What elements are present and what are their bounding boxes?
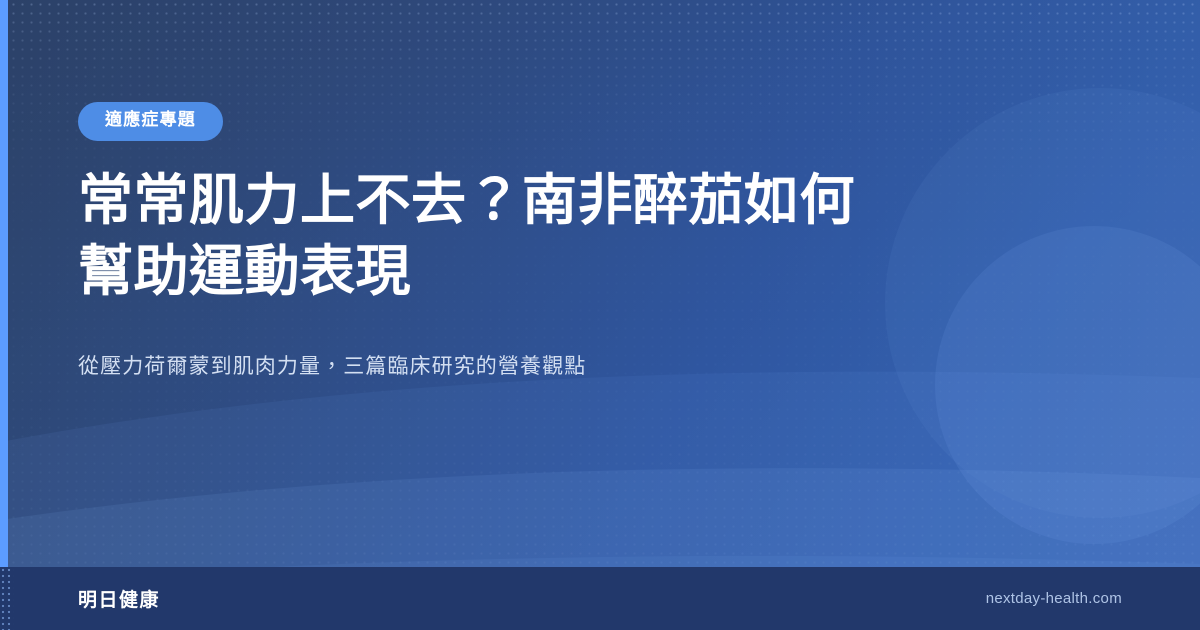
social-share-card: 適應症專題 常常肌力上不去？南非醉茄如何 幫助運動表現 從壓力荷爾蒙到肌肉力量，… [0,0,1200,630]
footer-brand-name: 明日健康 [78,585,160,612]
footer-dot-pattern [0,567,14,630]
page-subtitle: 從壓力荷爾蒙到肌肉力量，三篇臨床研究的營養觀點 [78,308,958,384]
category-badge[interactable]: 適應症專題 [78,102,223,141]
page-title: 常常肌力上不去？南非醉茄如何 幫助運動表現 [78,141,908,308]
card-footer: 明日健康 nextday-health.com [0,567,1200,630]
left-accent-bar [0,0,8,567]
footer-site-url[interactable]: nextday-health.com [986,590,1122,607]
card-content: 適應症專題 常常肌力上不去？南非醉茄如何 幫助運動表現 從壓力荷爾蒙到肌肉力量，… [78,0,958,383]
page-title-line-1: 常常肌力上不去？南非醉茄如何 [78,169,855,231]
page-title-line-2: 幫助運動表現 [78,240,411,302]
